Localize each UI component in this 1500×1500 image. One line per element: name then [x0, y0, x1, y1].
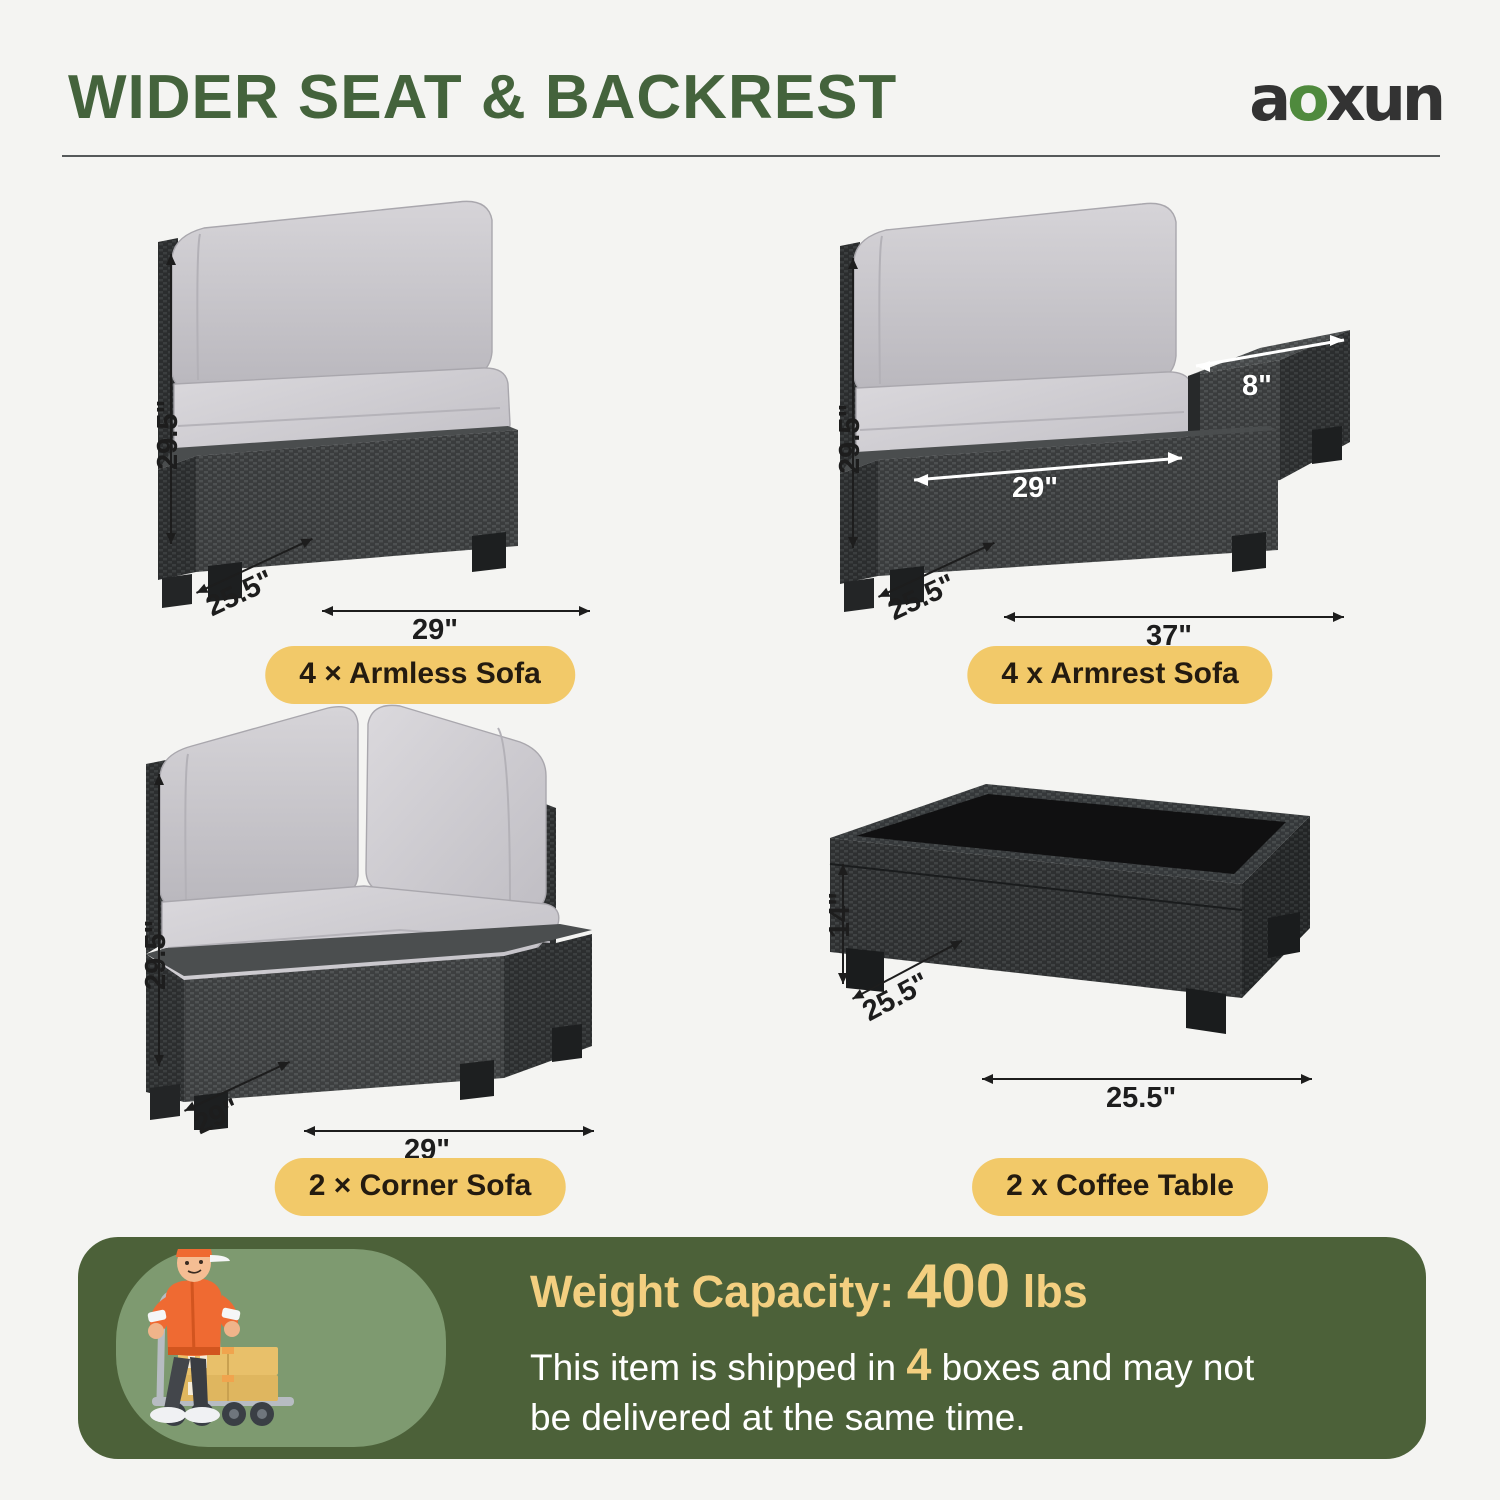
armrest-sofa-illustration	[790, 180, 1450, 620]
shipping-note-part3: be delivered at the same time.	[530, 1397, 1026, 1438]
armrest-width-arrow	[1004, 616, 1344, 618]
armless-sofa-illustration	[100, 180, 740, 620]
armrest-armwidth-label: 8"	[1242, 370, 1272, 403]
page-header: WIDER SEAT & BACKREST aoxun	[0, 0, 1500, 165]
corner-height-label: 29.5"	[140, 920, 173, 990]
table-width-arrow	[982, 1078, 1312, 1080]
page-title: WIDER SEAT & BACKREST	[68, 62, 897, 133]
corner-width-arrow	[304, 1130, 594, 1132]
armrest-seat-width-label: 29"	[1012, 472, 1058, 505]
delivery-person-icon	[116, 1249, 446, 1447]
product-card-corner-sofa: 29.5" 29" 29" 2 × Corner Sofa	[100, 680, 740, 1200]
aoxun-brand-logo: aoxun	[1249, 62, 1442, 135]
badge-corner-sofa: 2 × Corner Sofa	[275, 1158, 566, 1216]
corner-sofa-illustration	[100, 680, 740, 1130]
weight-capacity-unit: lbs	[1023, 1266, 1088, 1317]
banner-text-block: Weight Capacity: 400 lbs This item is sh…	[530, 1251, 1390, 1441]
shipping-note-part2: boxes and may not	[942, 1347, 1255, 1388]
shipping-banner: Weight Capacity: 400 lbs This item is sh…	[78, 1237, 1426, 1459]
shipping-note-part1: This item is shipped in	[530, 1347, 896, 1388]
shipping-note: This item is shipped in 4 boxes and may …	[530, 1336, 1390, 1441]
weight-capacity-line: Weight Capacity: 400 lbs	[530, 1251, 1390, 1322]
brand-accent-letter: o	[1287, 62, 1326, 135]
armrest-height-label: 29.5"	[834, 404, 867, 474]
weight-capacity-value: 400	[907, 1252, 1010, 1321]
armless-width-label: 29"	[412, 614, 458, 647]
brand-suffix: xun	[1326, 62, 1442, 135]
header-divider	[62, 155, 1440, 157]
product-card-armrest-sofa: 29.5" 29" 8" 25.5" 37" 4 x Armrest Sofa	[790, 180, 1450, 690]
armless-height-label: 29.5"	[152, 400, 185, 470]
product-grid: 29.5" 25.5" 29" 4 × Armless Sofa	[0, 170, 1500, 1210]
delivery-illustration-backdrop	[116, 1249, 446, 1447]
product-card-coffee-table: 14" 25.5" 25.5" 2 x Coffee Table	[790, 680, 1450, 1200]
badge-coffee-table: 2 x Coffee Table	[972, 1158, 1268, 1216]
shipping-box-count: 4	[906, 1339, 931, 1390]
table-height-label: 14"	[824, 892, 857, 938]
table-width-label: 25.5"	[1106, 1082, 1176, 1115]
armless-width-arrow	[322, 610, 590, 612]
product-card-armless-sofa: 29.5" 25.5" 29" 4 × Armless Sofa	[100, 180, 740, 690]
weight-capacity-label: Weight Capacity:	[530, 1266, 894, 1317]
brand-prefix: a	[1249, 62, 1287, 135]
